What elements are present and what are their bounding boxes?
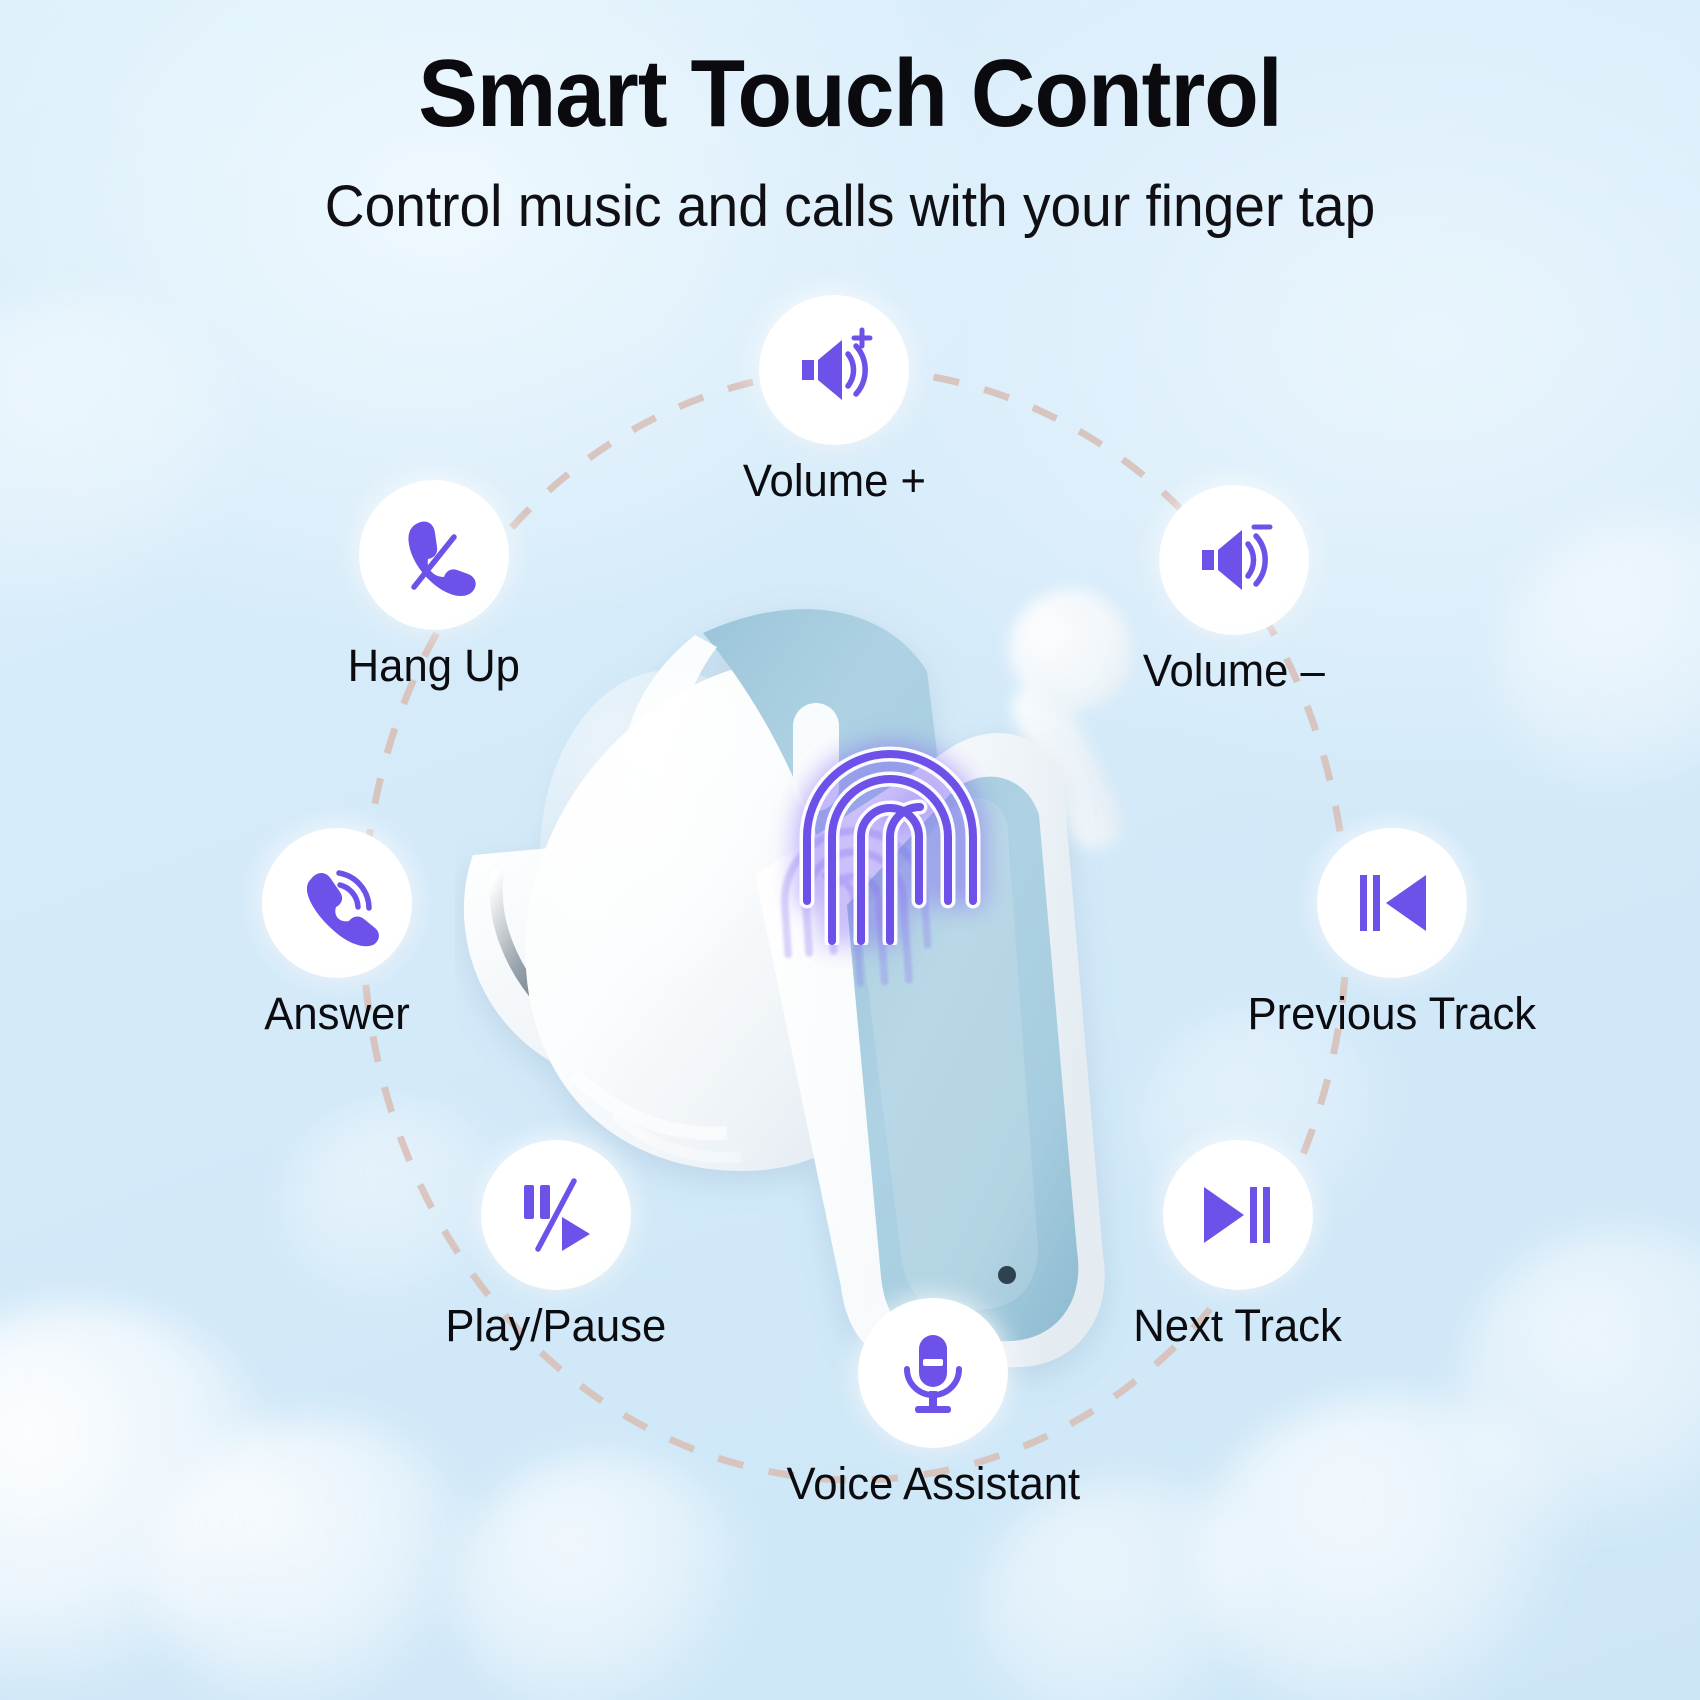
control-node-answer[interactable]: Answer <box>262 828 412 1037</box>
control-node-volume-down[interactable]: Volume – <box>1140 485 1328 694</box>
previous-track-label: Previous Track <box>1247 990 1536 1037</box>
control-node-volume-up[interactable]: Volume + <box>740 295 929 504</box>
volume-up-label: Volume + <box>743 457 926 504</box>
control-node-voice-assistant[interactable]: Voice Assistant <box>782 1298 1085 1507</box>
control-node-hang-up[interactable]: Hang Up <box>345 480 523 689</box>
volume-down-bubble[interactable] <box>1159 485 1309 635</box>
previous-track-bubble[interactable] <box>1317 828 1467 978</box>
volume-down-label: Volume – <box>1143 647 1325 694</box>
control-node-next-track[interactable]: Next Track <box>1130 1140 1345 1349</box>
fingerprint-icon <box>795 745 985 945</box>
voice-assistant-bubble[interactable] <box>858 1298 1008 1448</box>
microphone-icon <box>889 1329 977 1417</box>
next-track-label: Next Track <box>1133 1302 1342 1349</box>
play-pause-bubble[interactable] <box>481 1140 631 1290</box>
infographic-canvas: Smart Touch Control Control music and ca… <box>0 0 1700 1700</box>
page-title: Smart Touch Control <box>60 44 1641 145</box>
volume-up-bubble[interactable] <box>759 295 909 445</box>
control-node-play-pause[interactable]: Play/Pause <box>442 1140 670 1349</box>
page-subtitle: Control music and calls with your finger… <box>43 175 1658 239</box>
volume-down-icon <box>1190 516 1278 604</box>
play-pause-label: Play/Pause <box>445 1302 666 1349</box>
phone-answer-icon <box>293 859 381 947</box>
hang-up-label: Hang Up <box>348 642 520 689</box>
earbud-mic-hole <box>998 1266 1016 1284</box>
voice-assistant-label: Voice Assistant <box>787 1460 1081 1507</box>
previous-track-icon <box>1348 859 1436 947</box>
phone-hangup-icon <box>390 511 478 599</box>
volume-up-icon <box>790 326 878 414</box>
hang-up-bubble[interactable] <box>359 480 509 630</box>
answer-label: Answer <box>264 990 410 1037</box>
next-track-bubble[interactable] <box>1163 1140 1313 1290</box>
next-track-icon <box>1194 1171 1282 1259</box>
control-node-previous-track[interactable]: Previous Track <box>1243 828 1541 1037</box>
answer-bubble[interactable] <box>262 828 412 978</box>
play-pause-icon <box>512 1171 600 1259</box>
header-block: Smart Touch Control Control music and ca… <box>0 44 1700 239</box>
